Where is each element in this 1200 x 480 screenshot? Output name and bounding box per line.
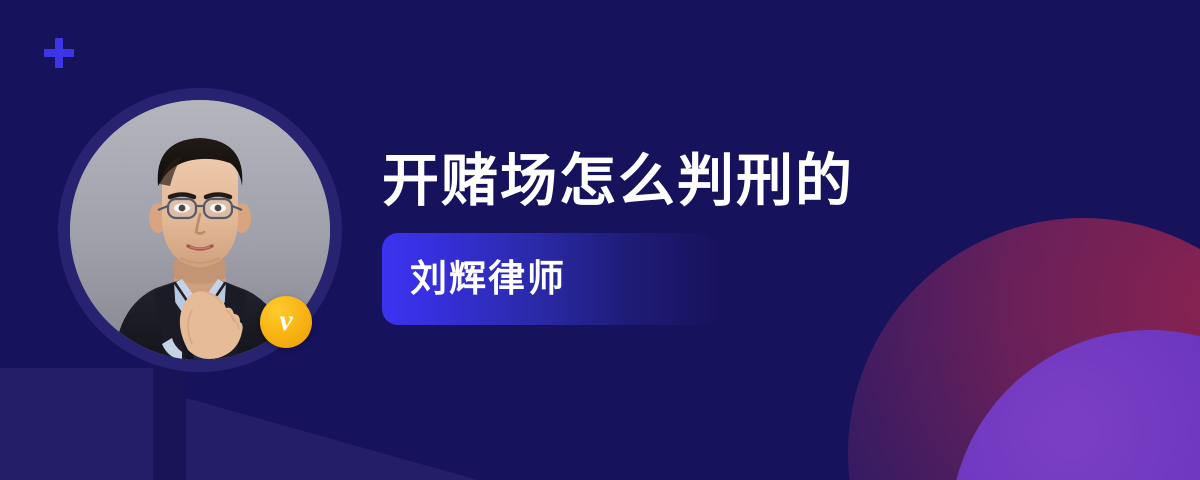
deco-rect-left	[0, 368, 155, 480]
content-block: 开赌场怎么判刑的 刘辉律师	[382, 150, 1142, 325]
promo-banner: v 开赌场怎么判刑的 刘辉律师	[0, 0, 1200, 480]
author-pill[interactable]: 刘辉律师	[382, 233, 722, 325]
author-name: 刘辉律师	[382, 260, 566, 297]
verified-badge-icon: v	[260, 296, 312, 348]
page-title: 开赌场怎么判刑的	[382, 150, 1142, 213]
plus-icon	[44, 38, 74, 68]
deco-triangle-wedge	[186, 398, 506, 480]
deco-vertical-band	[153, 368, 185, 480]
avatar: v	[58, 88, 342, 372]
verified-badge-label: v	[279, 306, 292, 336]
